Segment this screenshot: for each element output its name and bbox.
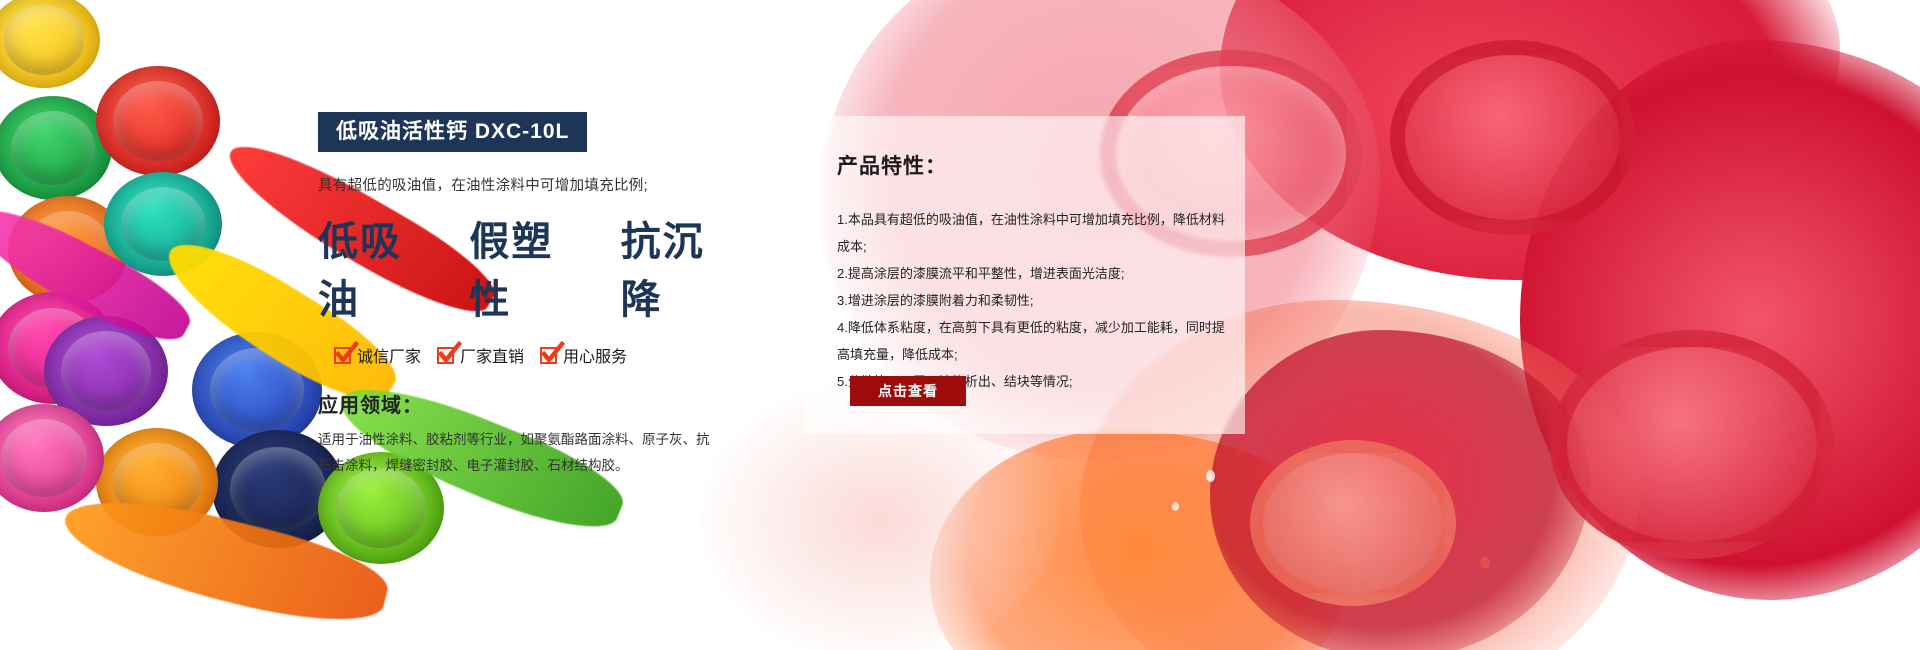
product-features-list: 1.本品具有超低的吸油值，在油性涂料中可增加填充比例，降低材料 成本; 2.提高…	[837, 206, 1215, 395]
feature-line: 高填充量，降低成本;	[837, 341, 1215, 368]
paint-smear-magenta	[0, 191, 200, 357]
paint-can-magenta	[0, 292, 116, 404]
product-features-title: 产品特性：	[837, 150, 1215, 180]
paint-wash-orange-bottom	[930, 430, 1350, 650]
application-section-body: 适用于油性涂料、胶粘剂等行业，如聚氨酯路面涂料、原子灰、抗石击涂料，焊缝密封胶、…	[318, 427, 718, 480]
paint-wash-deep-red	[1210, 330, 1590, 650]
trust-badge-3: 用心服务	[540, 343, 627, 367]
paint-can-purple	[44, 316, 168, 426]
paint-can-green	[0, 96, 112, 200]
feature-line: 2.提高涂层的漆膜流平和平整性，增进表面光洁度;	[837, 260, 1215, 287]
view-details-button[interactable]: 点击查看	[850, 376, 966, 406]
paint-can-yellow	[0, 0, 100, 88]
trust-badge-row: 诚信厂家 厂家直销 用心服务	[318, 343, 738, 367]
left-content-column: 低吸油活性钙 DXC-10L 具有超低的吸油值，在油性涂料中可增加填充比例; 低…	[318, 112, 738, 480]
product-title-badge: 低吸油活性钙 DXC-10L	[318, 112, 587, 152]
banner-stage: 低吸油活性钙 DXC-10L 具有超低的吸油值，在油性涂料中可增加填充比例; 低…	[0, 0, 1920, 650]
paint-dish-pink-small	[1250, 440, 1456, 606]
paint-can-blue	[192, 332, 322, 448]
feature-line: 1.本品具有超低的吸油值，在油性涂料中可增加填充比例，降低材料	[837, 206, 1215, 233]
paint-droplet-1	[1206, 470, 1215, 482]
paint-can-pink	[0, 404, 104, 512]
paint-can-orange	[8, 196, 128, 304]
paint-wash-crimson-top	[1220, 0, 1840, 280]
headline-word-2: 假塑性	[469, 209, 586, 325]
paint-droplet-3	[1480, 556, 1490, 569]
paint-dish-red-bottom	[1550, 330, 1834, 559]
paint-can-teal	[104, 172, 222, 276]
trust-badge-label-3: 用心服务	[563, 343, 627, 367]
application-section-title: 应用领域：	[318, 389, 738, 418]
checkbox-check-icon	[540, 347, 557, 364]
product-subtitle: 具有超低的吸油值，在油性涂料中可增加填充比例;	[318, 174, 738, 195]
trust-badge-label-2: 厂家直销	[460, 343, 524, 367]
headline-word-1: 低吸油	[318, 209, 435, 325]
trust-badge-2: 厂家直销	[437, 343, 524, 367]
paint-can-orange-bottom	[96, 428, 218, 536]
paint-droplet-2	[1172, 502, 1179, 511]
headline-keywords: 低吸油 假塑性 抗沉降	[318, 209, 738, 325]
checkbox-check-icon	[437, 347, 454, 364]
checkbox-check-icon	[334, 347, 351, 364]
feature-line: 成本;	[837, 233, 1215, 260]
feature-line: 3.增进涂层的漆膜附着力和柔韧性;	[837, 287, 1215, 314]
trust-badge-label-1: 诚信厂家	[357, 343, 421, 367]
paint-can-red	[96, 66, 220, 176]
paint-wash-crimson-right	[1520, 40, 1920, 600]
feature-line: 4.降低体系粘度，在高剪下具有更低的粘度，减少加工能耗，同时提	[837, 314, 1215, 341]
trust-badge-1: 诚信厂家	[334, 343, 421, 367]
headline-word-3: 抗沉降	[621, 209, 738, 325]
paint-dish-crimson-right	[1390, 40, 1635, 235]
product-features-inner: 产品特性： 1.本品具有超低的吸油值，在油性涂料中可增加填充比例，降低材料 成本…	[805, 116, 1245, 395]
paint-smear-orange	[55, 481, 395, 638]
